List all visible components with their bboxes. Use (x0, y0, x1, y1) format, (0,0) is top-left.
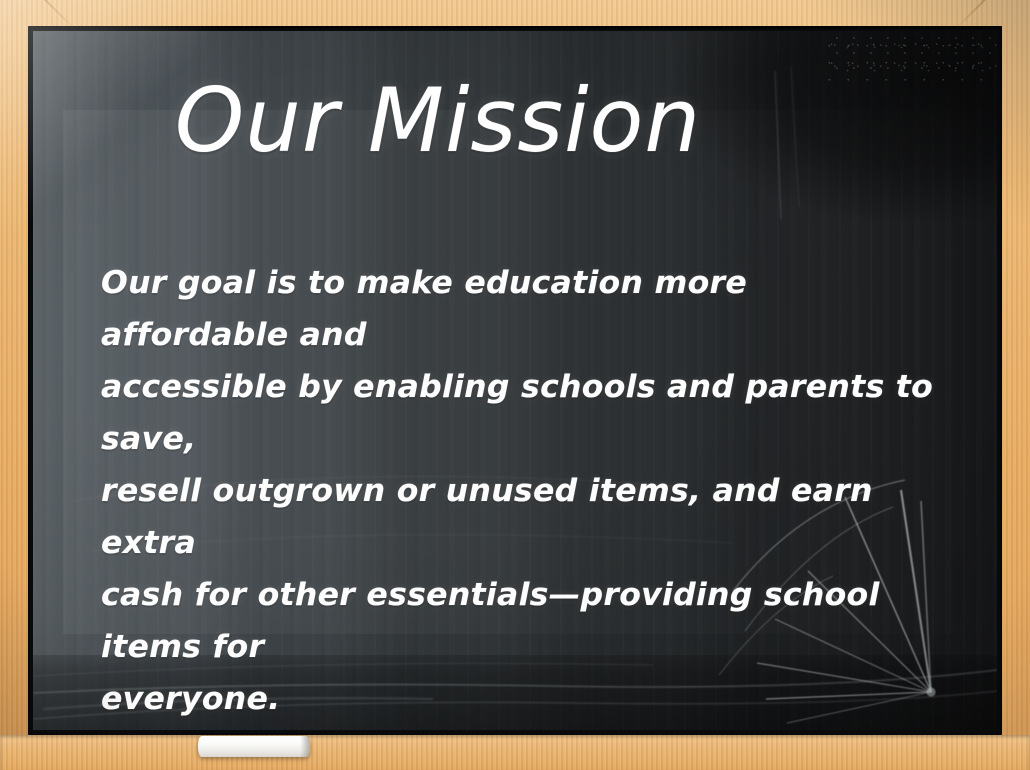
page-title: Our Mission (101, 77, 945, 165)
chalk-ledge (0, 735, 1030, 770)
mission-line: cash for other essentials—providing scho… (101, 569, 945, 673)
mission-line: everyone. (101, 673, 945, 725)
mission-line: resell outgrown or unused items, and ear… (101, 465, 945, 569)
chalkboard-slate: Our Mission Our goal is to make educatio… (33, 31, 997, 730)
chalk-stick[interactable] (198, 736, 310, 757)
mission-line: Our goal is to make education more affor… (101, 257, 945, 361)
mission-statement: Our goal is to make education more affor… (101, 257, 945, 725)
slide-content: Our Mission Our goal is to make educatio… (33, 31, 997, 730)
mission-line: accessible by enabling schools and paren… (101, 361, 945, 465)
wooden-frame: Our Mission Our goal is to make educatio… (0, 0, 1030, 770)
